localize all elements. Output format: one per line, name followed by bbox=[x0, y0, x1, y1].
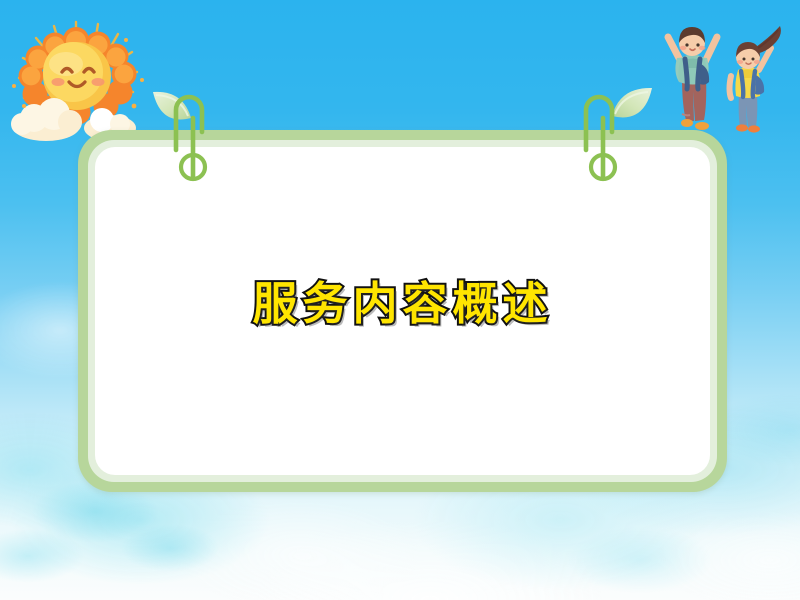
girl-jumping bbox=[730, 26, 781, 133]
slide-canvas: 服务内容概述 bbox=[0, 0, 800, 600]
sun-face-gloss bbox=[49, 52, 83, 76]
sun-cheek-right bbox=[92, 78, 105, 86]
sun-cheek-left bbox=[52, 78, 65, 86]
binder-clip-left-icon bbox=[166, 88, 220, 188]
binder-clip-right-icon bbox=[576, 88, 630, 188]
children-illustration bbox=[655, 14, 800, 139]
boy-jumping bbox=[668, 27, 717, 130]
slide-title: 服务内容概述 bbox=[252, 281, 552, 326]
